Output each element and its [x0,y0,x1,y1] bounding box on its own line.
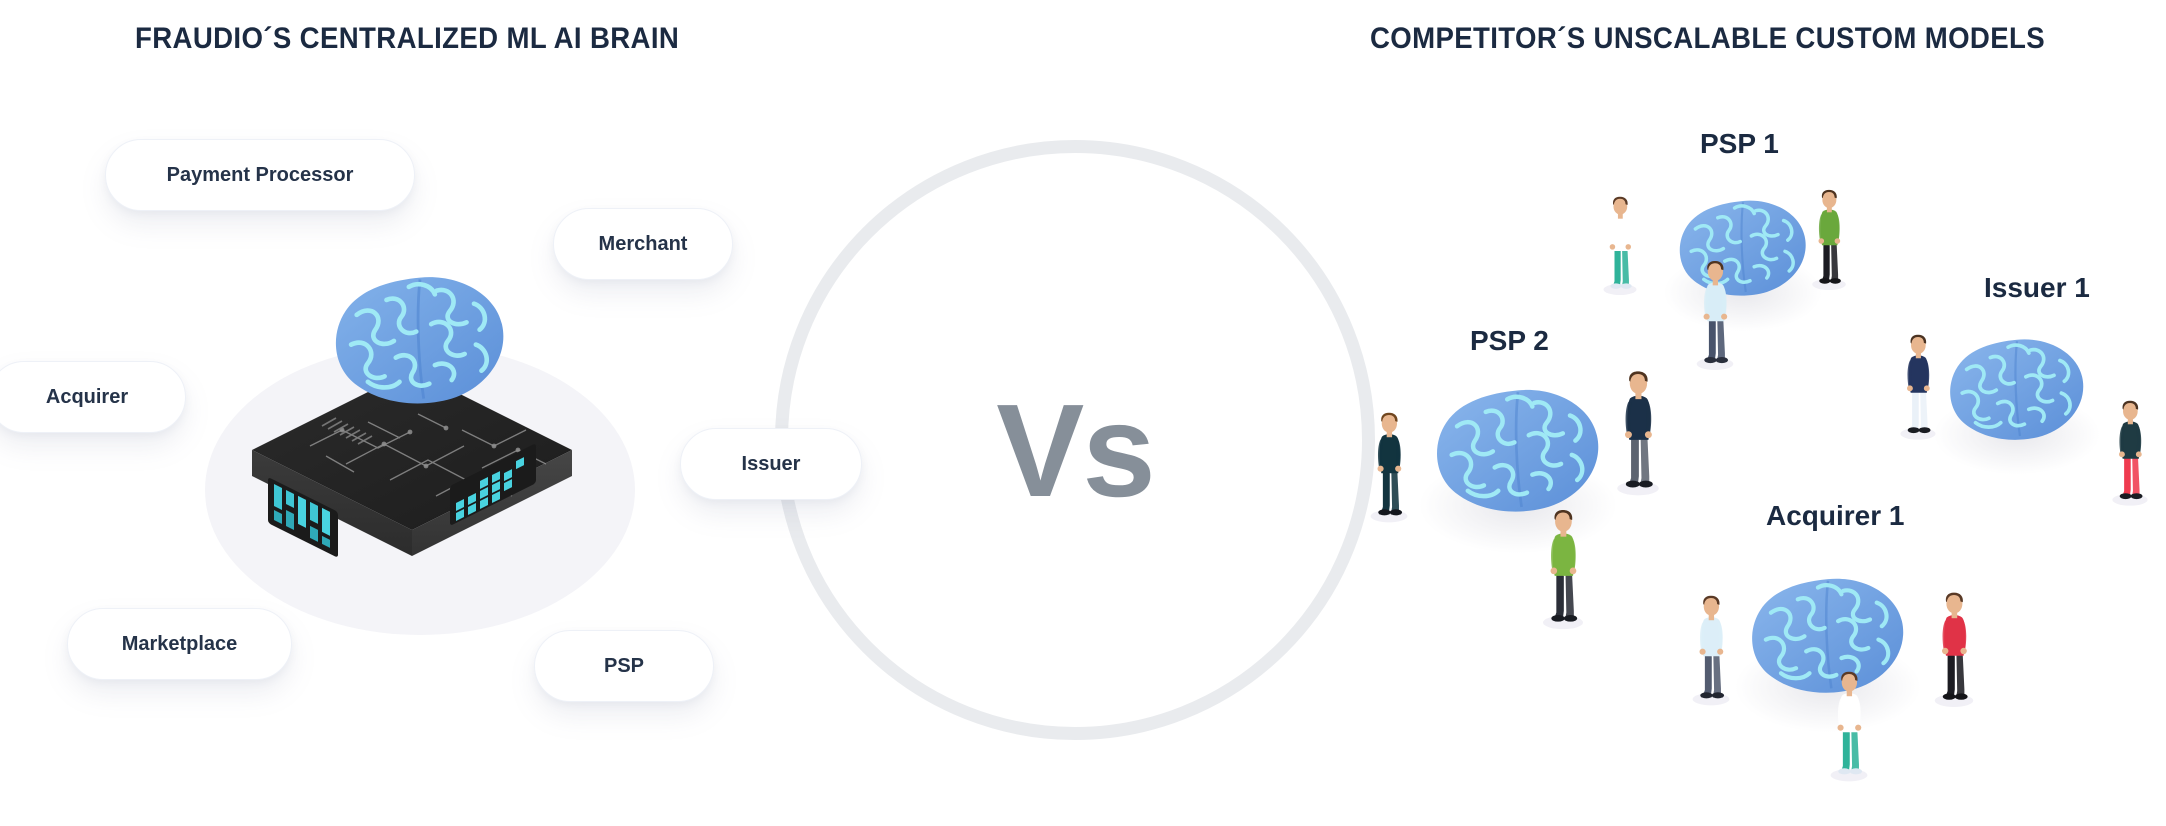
participant-pill-label: Marketplace [122,633,238,656]
participant-pill-label: Acquirer [46,386,128,409]
cluster-label-acquirer-1: Acquirer 1 [1766,500,1905,532]
vs-label: Vs [975,385,1175,517]
centralized-ai-brain [325,272,515,407]
participant-pill-acquirer[interactable]: Acquirer [0,361,186,433]
participant-pill-issuer[interactable]: Issuer [680,428,862,500]
person-man-dark-teal-suit [1366,388,1412,534]
participant-pill-psp[interactable]: PSP [534,630,714,702]
person-woman-navy-top-white-pants [1896,320,1940,442]
person-woman-with-phone-teal-pants [1597,185,1643,295]
cluster-label-issuer-1: Issuer 1 [1984,272,2090,304]
participant-pill-label: PSP [604,655,644,678]
participant-pill-label: Merchant [599,233,688,256]
participant-pill-payment-processor[interactable]: Payment Processor [105,139,415,211]
person-man-light-blue-shirt-left [1688,580,1734,708]
cluster-label-psp-1: PSP 1 [1700,128,1779,160]
person-man-red-shirt [1930,578,1978,708]
person-woman-dark-top-red-pants [2108,382,2152,512]
person-man-green-sweater [1806,178,1852,290]
right-panel-title: COMPETITOR´S UNSCALABLE CUSTOM MODELS [1370,22,2045,56]
participant-pill-marketplace[interactable]: Marketplace [67,608,292,680]
left-panel-title: FRAUDIO´S CENTRALIZED ML AI BRAIN [135,22,679,56]
participant-pill-label: Issuer [742,453,801,476]
custom-model-brain-issuer-1 [1943,335,2091,443]
infographic-canvas: FRAUDIO´S CENTRALIZED ML AI BRAIN COMPET… [0,0,2166,826]
cluster-label-psp-2: PSP 2 [1470,325,1549,357]
person-man-light-blue-shirt [1692,248,1738,370]
person-woman-with-phone-front [1826,650,1872,790]
participant-pill-label: Payment Processor [167,164,354,187]
person-man-navy-sweater-briefcase [1612,352,1664,500]
participant-pill-merchant[interactable]: Merchant [553,208,733,280]
person-man-green-sweater-front [1538,490,1588,635]
